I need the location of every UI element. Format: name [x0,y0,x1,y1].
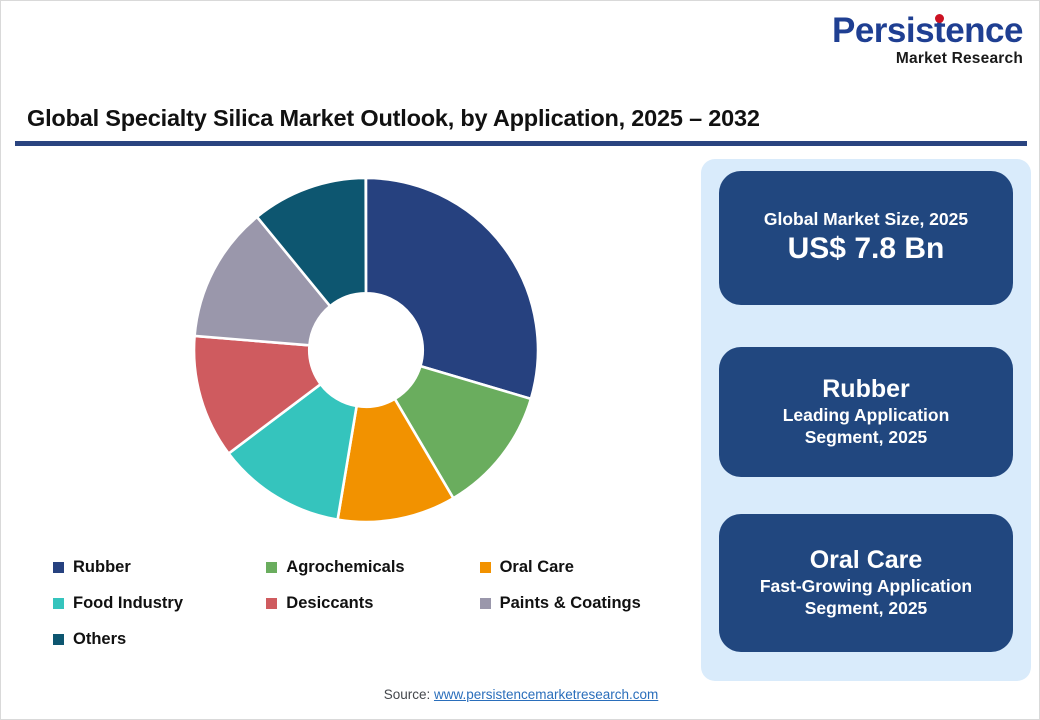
legend-item[interactable]: Agrochemicals [266,549,479,585]
registered-mark-dot-icon [935,14,944,23]
card-market-size-label: Global Market Size, 2025 [764,209,968,230]
card-global-market-size: Global Market Size, 2025 US$ 7.8 Bn [719,171,1013,305]
source-line: Source: www.persistencemarketresearch.co… [1,687,1040,702]
source-link[interactable]: www.persistencemarketresearch.com [434,687,658,702]
legend-item-label: Agrochemicals [286,558,404,577]
legend-swatch-icon [266,598,277,609]
logo-brand-label: Persistence [832,11,1023,50]
donut-slice-rubber[interactable] [366,178,538,399]
legend-item[interactable]: Others [53,621,266,657]
legend-swatch-icon [480,562,491,573]
card-leading-segment-sub-line1: Leading Application [783,405,950,427]
logo-brand-text: Persistence [832,13,1023,48]
legend-item-label: Others [73,630,126,649]
legend-item[interactable]: Rubber [53,549,266,585]
logo-subtitle: Market Research [832,51,1023,67]
infographic-page: Persistence Market Research Global Speci… [0,0,1040,720]
donut-chart [193,177,539,523]
legend-swatch-icon [53,598,64,609]
card-fast-growing-segment: Oral Care Fast-Growing Application Segme… [719,514,1013,652]
card-market-size-value: US$ 7.8 Bn [788,232,945,267]
legend-swatch-icon [480,598,491,609]
card-fast-growing-segment-sub-line2: Segment, 2025 [805,598,928,620]
donut-slice-group [194,178,538,522]
legend-item[interactable]: Paints & Coatings [480,585,693,621]
donut-chart-svg [193,177,539,523]
legend-item[interactable]: Desiccants [266,585,479,621]
title-divider [15,141,1027,146]
card-fast-growing-segment-name: Oral Care [810,546,923,575]
source-prefix: Source: [384,687,434,702]
legend-item-label: Oral Care [500,558,574,577]
donut-chart-area [15,151,687,546]
card-leading-segment: Rubber Leading Application Segment, 2025 [719,347,1013,477]
legend-swatch-icon [53,562,64,573]
legend-item-label: Food Industry [73,594,183,613]
legend-item-label: Desiccants [286,594,373,613]
highlight-panel: Global Market Size, 2025 US$ 7.8 Bn Rubb… [701,159,1031,681]
chart-legend: RubberAgrochemicalsOral CareFood Industr… [53,549,693,657]
legend-item[interactable]: Food Industry [53,585,266,621]
legend-item-label: Rubber [73,558,131,577]
legend-swatch-icon [266,562,277,573]
legend-item[interactable]: Oral Care [480,549,693,585]
card-leading-segment-sub-line2: Segment, 2025 [805,427,928,449]
card-fast-growing-segment-sub-line1: Fast-Growing Application [760,576,972,598]
company-logo: Persistence Market Research [832,13,1023,67]
legend-item-label: Paints & Coatings [500,594,641,613]
page-title: Global Specialty Silica Market Outlook, … [27,105,760,132]
legend-swatch-icon [53,634,64,645]
card-leading-segment-name: Rubber [822,375,910,404]
